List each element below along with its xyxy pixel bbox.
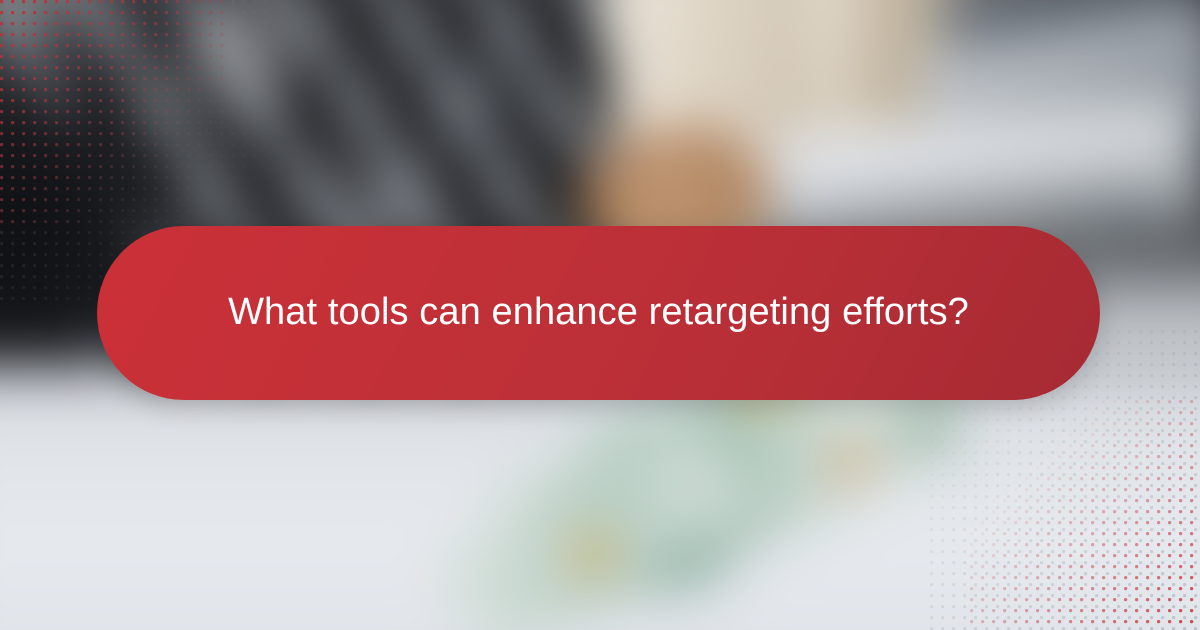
dot-grid-top-left	[0, 0, 230, 230]
headline-pill: What tools can enhance retargeting effor…	[97, 226, 1100, 400]
headline-text: What tools can enhance retargeting effor…	[172, 290, 1025, 336]
social-card: What tools can enhance retargeting effor…	[0, 0, 1200, 630]
dot-grid-bottom-right	[970, 400, 1200, 630]
